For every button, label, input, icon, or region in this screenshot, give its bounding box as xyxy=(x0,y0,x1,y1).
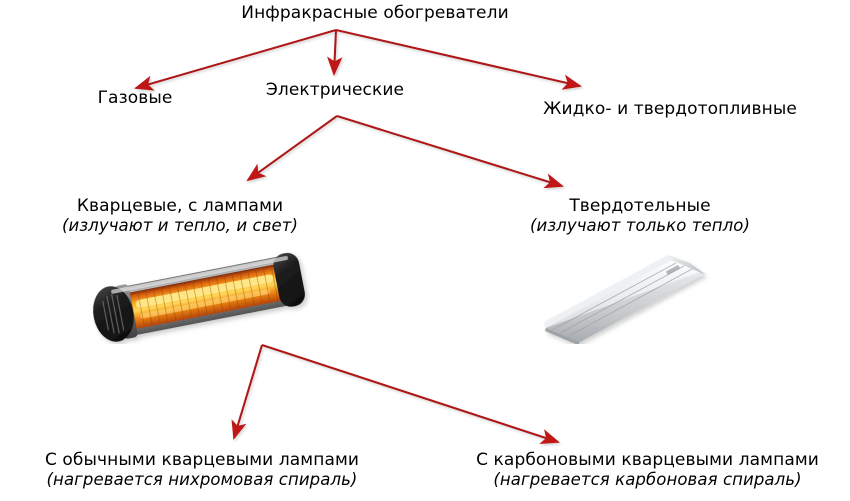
node-common-lamps-note: (нагревается нихромовая спираль) xyxy=(0,470,412,489)
arrow-root-to-fuel xyxy=(336,30,580,86)
node-quartz-label: Кварцевые, с лампами xyxy=(0,196,360,216)
node-solid-state: Твердотельные (излучают только тепло) xyxy=(480,196,800,236)
node-solid-state-note: (излучают только тепло) xyxy=(480,216,800,235)
panel-body xyxy=(544,255,706,344)
node-root: Инфракрасные обогреватели xyxy=(190,3,560,23)
arrow-electric-to-solidstate xyxy=(337,116,562,186)
arrow-layer xyxy=(0,0,850,501)
node-electric-label: Электрические xyxy=(215,80,455,100)
node-solid-state-label: Твердотельные xyxy=(480,196,800,216)
node-common-lamps: С обычными кварцевыми лампами (нагревает… xyxy=(0,450,412,490)
node-quartz-note: (излучают и тепло, и свет) xyxy=(0,216,360,235)
arrow-electric-to-quartz xyxy=(248,116,337,180)
node-carbon-lamps: С карбоновыми кварцевыми лампами (нагрев… xyxy=(445,450,850,490)
node-root-label: Инфракрасные обогреватели xyxy=(190,3,560,23)
arrow-quartz-to-common xyxy=(234,345,262,438)
node-common-lamps-label: С обычными кварцевыми лампами xyxy=(0,450,412,470)
node-carbon-lamps-note: (нагревается карбоновая спираль) xyxy=(445,470,850,489)
node-carbon-lamps-label: С карбоновыми кварцевыми лампами xyxy=(445,450,850,470)
node-quartz: Кварцевые, с лампами (излучают и тепло, … xyxy=(0,196,360,236)
arrow-root-to-electric xyxy=(334,30,336,74)
solid-state-panel-heater-image xyxy=(540,252,712,344)
node-liquid-solid-fuel: Жидко- и твердотопливные xyxy=(495,99,845,119)
node-liquid-solid-fuel-label: Жидко- и твердотопливные xyxy=(495,99,845,119)
diagram-canvas: Инфракрасные обогреватели Газовые Электр… xyxy=(0,0,850,501)
quartz-lamp-heater-image xyxy=(92,252,310,344)
arrow-quartz-to-carbon xyxy=(262,345,558,442)
node-electric: Электрические xyxy=(215,80,455,100)
